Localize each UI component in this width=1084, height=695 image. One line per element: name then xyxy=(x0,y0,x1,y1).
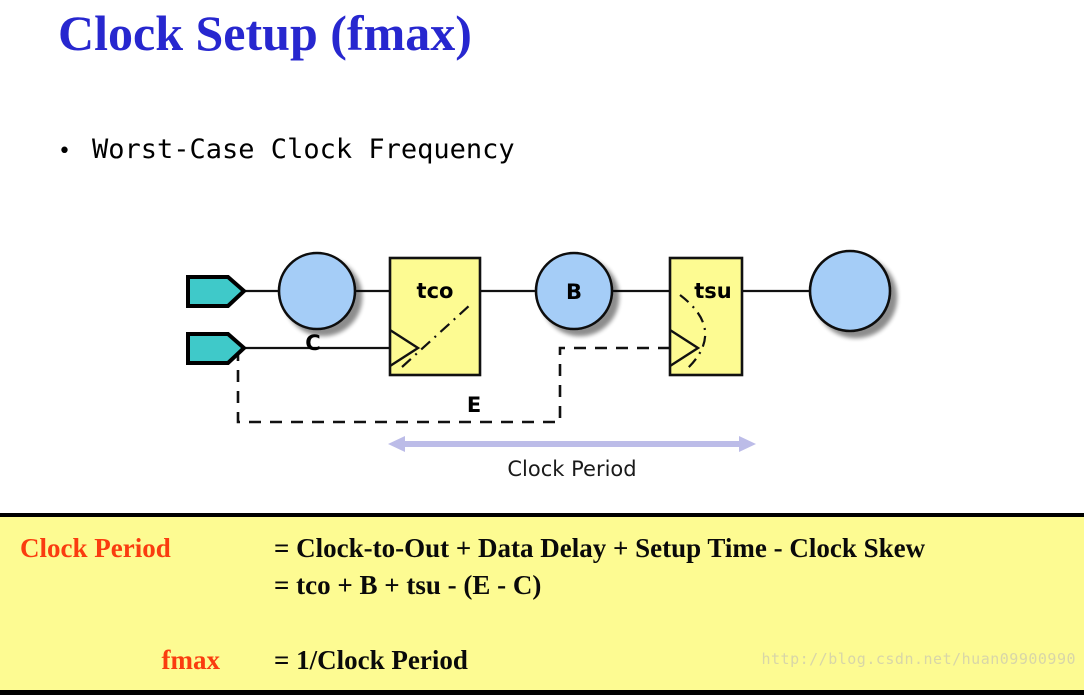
clock-period-arrow-head-right xyxy=(739,436,756,452)
formula-row: Clock Period = Clock-to-Out + Data Delay… xyxy=(20,533,925,564)
page-title: Clock Setup (fmax) xyxy=(58,2,472,64)
bullet-dot-icon: • xyxy=(58,137,92,167)
formula-value-fmax: = 1/Clock Period xyxy=(220,645,468,676)
clock-period-measure: Clock Period xyxy=(388,436,756,481)
node-source xyxy=(279,253,355,329)
formula-value-expanded: = tco + B + tsu - (E - C) xyxy=(220,570,541,601)
input-pentagons xyxy=(188,277,244,363)
formula-key-clock-period: Clock Period xyxy=(20,533,220,564)
register-tsu: tsu xyxy=(670,258,742,375)
data-input-arrow xyxy=(188,277,244,306)
formula-value-clock-period: = Clock-to-Out + Data Delay + Setup Time… xyxy=(220,533,925,564)
formula-key-fmax: fmax xyxy=(20,645,220,676)
timing-path-diagram: tco tsu B C E Clock Period xyxy=(0,225,1084,510)
clock-input-arrow xyxy=(188,334,244,363)
label-e: E xyxy=(467,393,481,417)
label-c: C xyxy=(305,331,320,355)
node-destination xyxy=(810,251,890,331)
formula-row: = tco + B + tsu - (E - C) xyxy=(20,570,541,601)
register-tco-label: tco xyxy=(417,279,454,303)
register-tsu-body xyxy=(670,258,742,375)
watermark-text: http://blog.csdn.net/huan09900990 xyxy=(761,650,1076,668)
slide-canvas: Clock Setup (fmax) • Worst-Case Clock Fr… xyxy=(0,0,1084,695)
formula-row: fmax = 1/Clock Period xyxy=(20,645,468,676)
clock-period-label: Clock Period xyxy=(507,457,636,481)
register-tco: tco xyxy=(390,258,480,375)
node-b-label: B xyxy=(566,280,582,304)
clock-period-arrow-head-left xyxy=(388,436,405,452)
bullet-item: • Worst-Case Clock Frequency xyxy=(58,134,515,167)
register-tsu-label: tsu xyxy=(694,279,732,303)
formula-panel: Clock Period = Clock-to-Out + Data Delay… xyxy=(0,513,1084,695)
bullet-item-label: Worst-Case Clock Frequency xyxy=(92,134,515,166)
